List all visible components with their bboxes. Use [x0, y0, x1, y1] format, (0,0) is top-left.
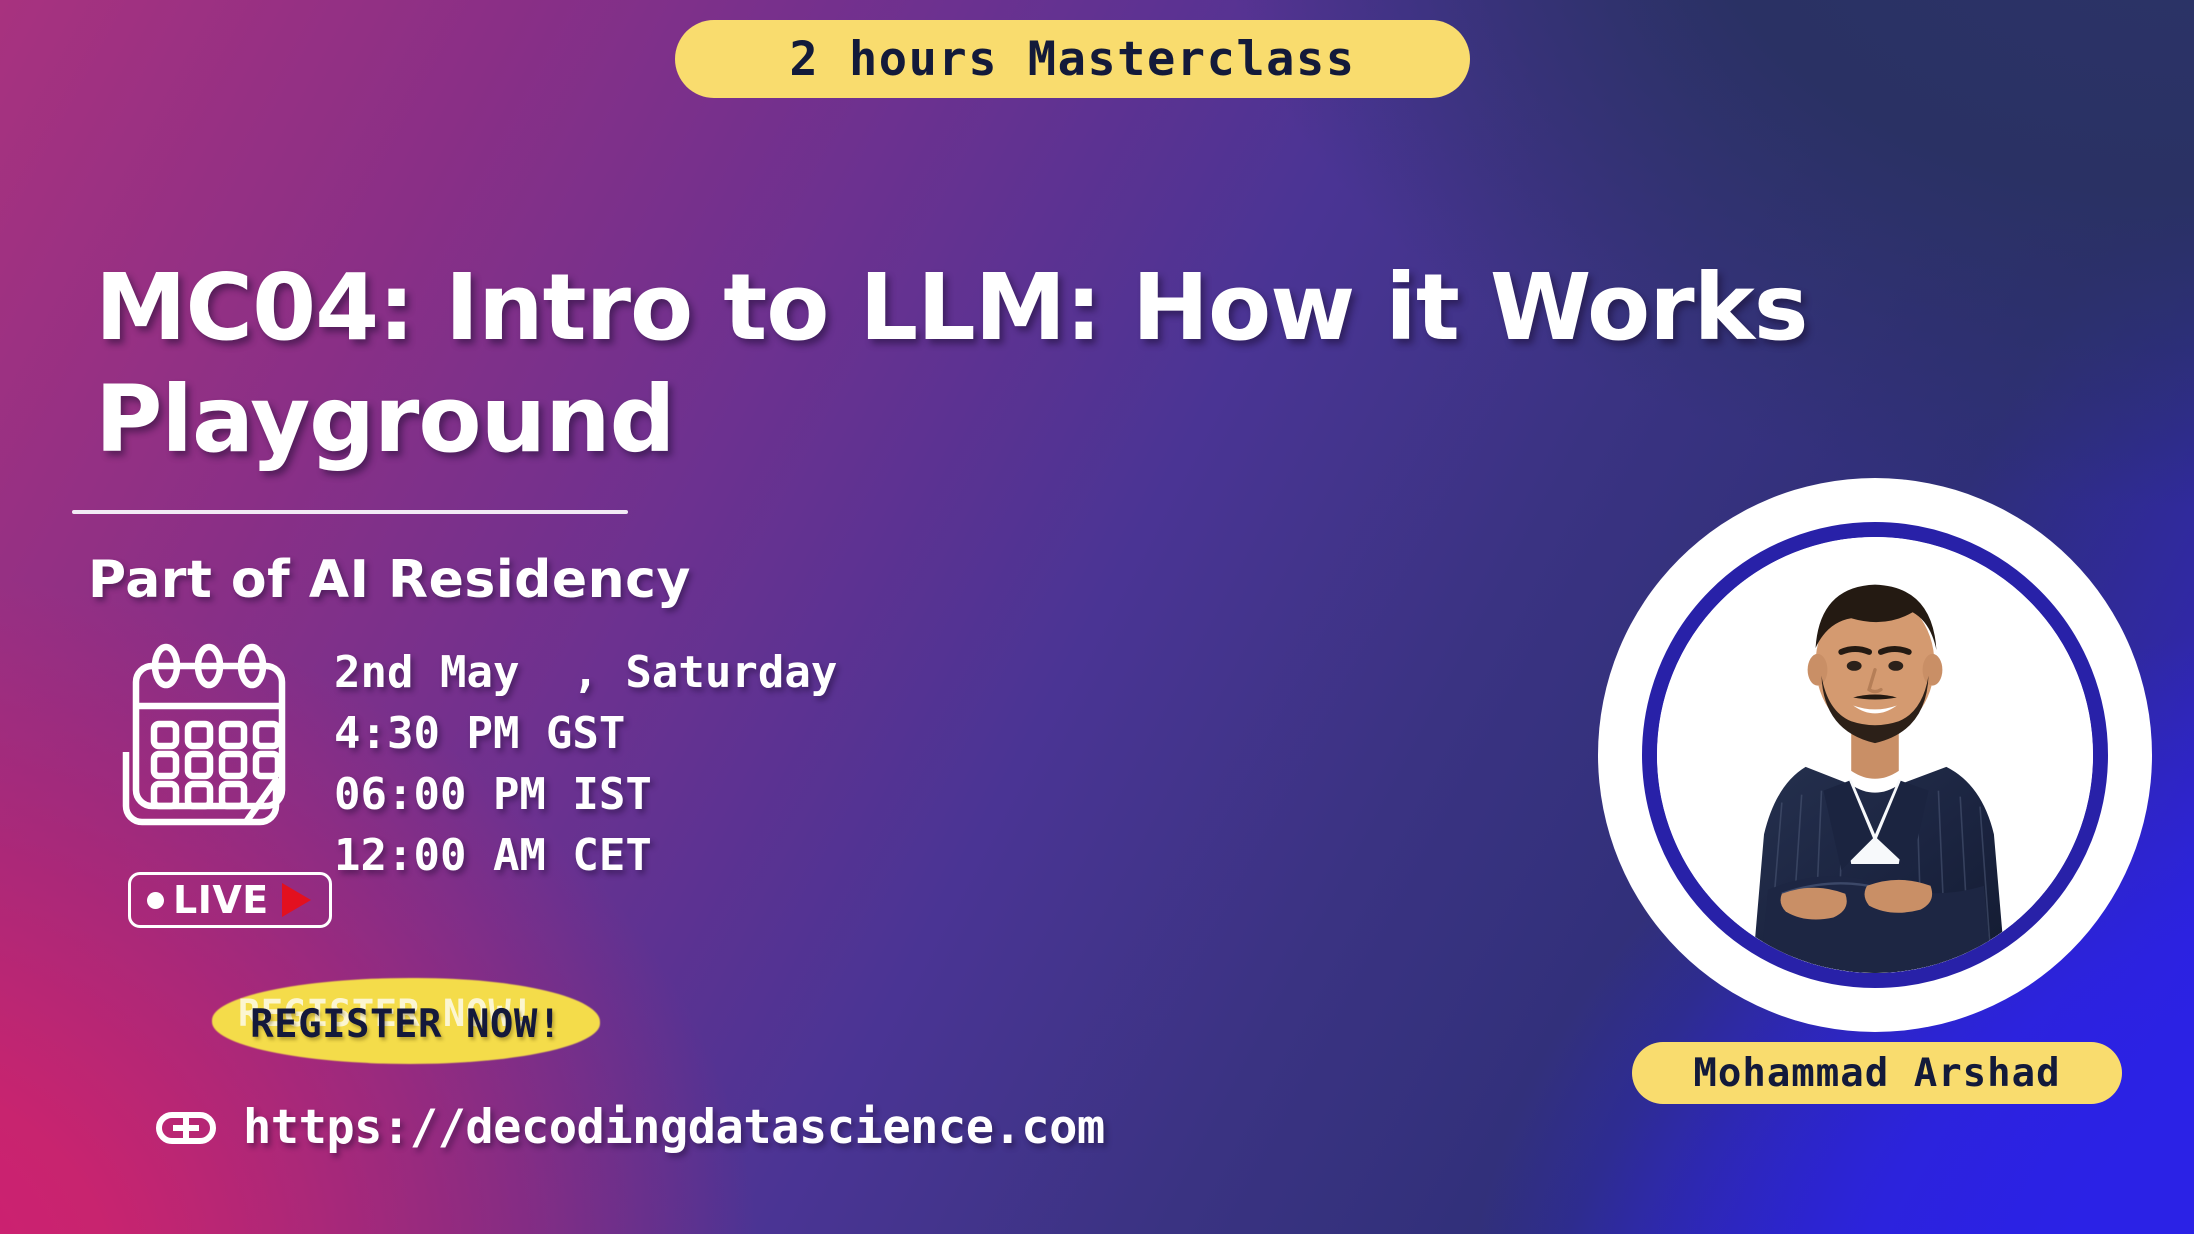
live-badge-label: LIVE	[173, 878, 269, 922]
live-dot-icon	[147, 892, 164, 909]
website-url-text: https://decodingdatascience.com	[243, 1100, 1105, 1155]
program-subtitle: Part of AI Residency	[88, 550, 691, 610]
speaker-name-badge: Mohammad Arshad	[1632, 1042, 2122, 1104]
divider	[72, 510, 628, 514]
link-icon	[155, 1106, 217, 1150]
website-link[interactable]: https://decodingdatascience.com	[155, 1100, 1105, 1155]
duration-badge-label: 2 hours Masterclass	[789, 32, 1355, 87]
schedule-line-cet: 12:00 AM CET	[334, 825, 837, 886]
schedule-line-gst: 4:30 PM GST	[334, 703, 837, 764]
avatar	[1598, 478, 2152, 1032]
live-badge: LIVE	[128, 872, 332, 928]
speaker-portrait	[1657, 537, 2093, 973]
masterclass-promo-banner: 2 hours Masterclass MC04: Intro to LLM: …	[0, 0, 2194, 1234]
schedule-line-date: 2nd May , Saturday	[334, 642, 837, 703]
schedule-block: 2nd May , Saturday 4:30 PM GST 06:00 PM …	[120, 640, 837, 886]
register-now-button[interactable]: REGISTER NOW! REGISTER NOW!	[212, 978, 600, 1064]
avatar-ring	[1642, 522, 2108, 988]
register-button-label: REGISTER NOW!	[212, 1002, 600, 1047]
play-triangle-icon	[282, 883, 311, 917]
schedule-lines: 2nd May , Saturday 4:30 PM GST 06:00 PM …	[334, 642, 837, 886]
duration-badge: 2 hours Masterclass	[675, 20, 1470, 98]
speaker-name-label: Mohammad Arshad	[1693, 1051, 2060, 1096]
calendar-icon	[120, 640, 298, 826]
schedule-line-ist: 06:00 PM IST	[334, 764, 837, 825]
page-title: MC04: Intro to LLM: How it Works Playgro…	[95, 252, 1855, 476]
